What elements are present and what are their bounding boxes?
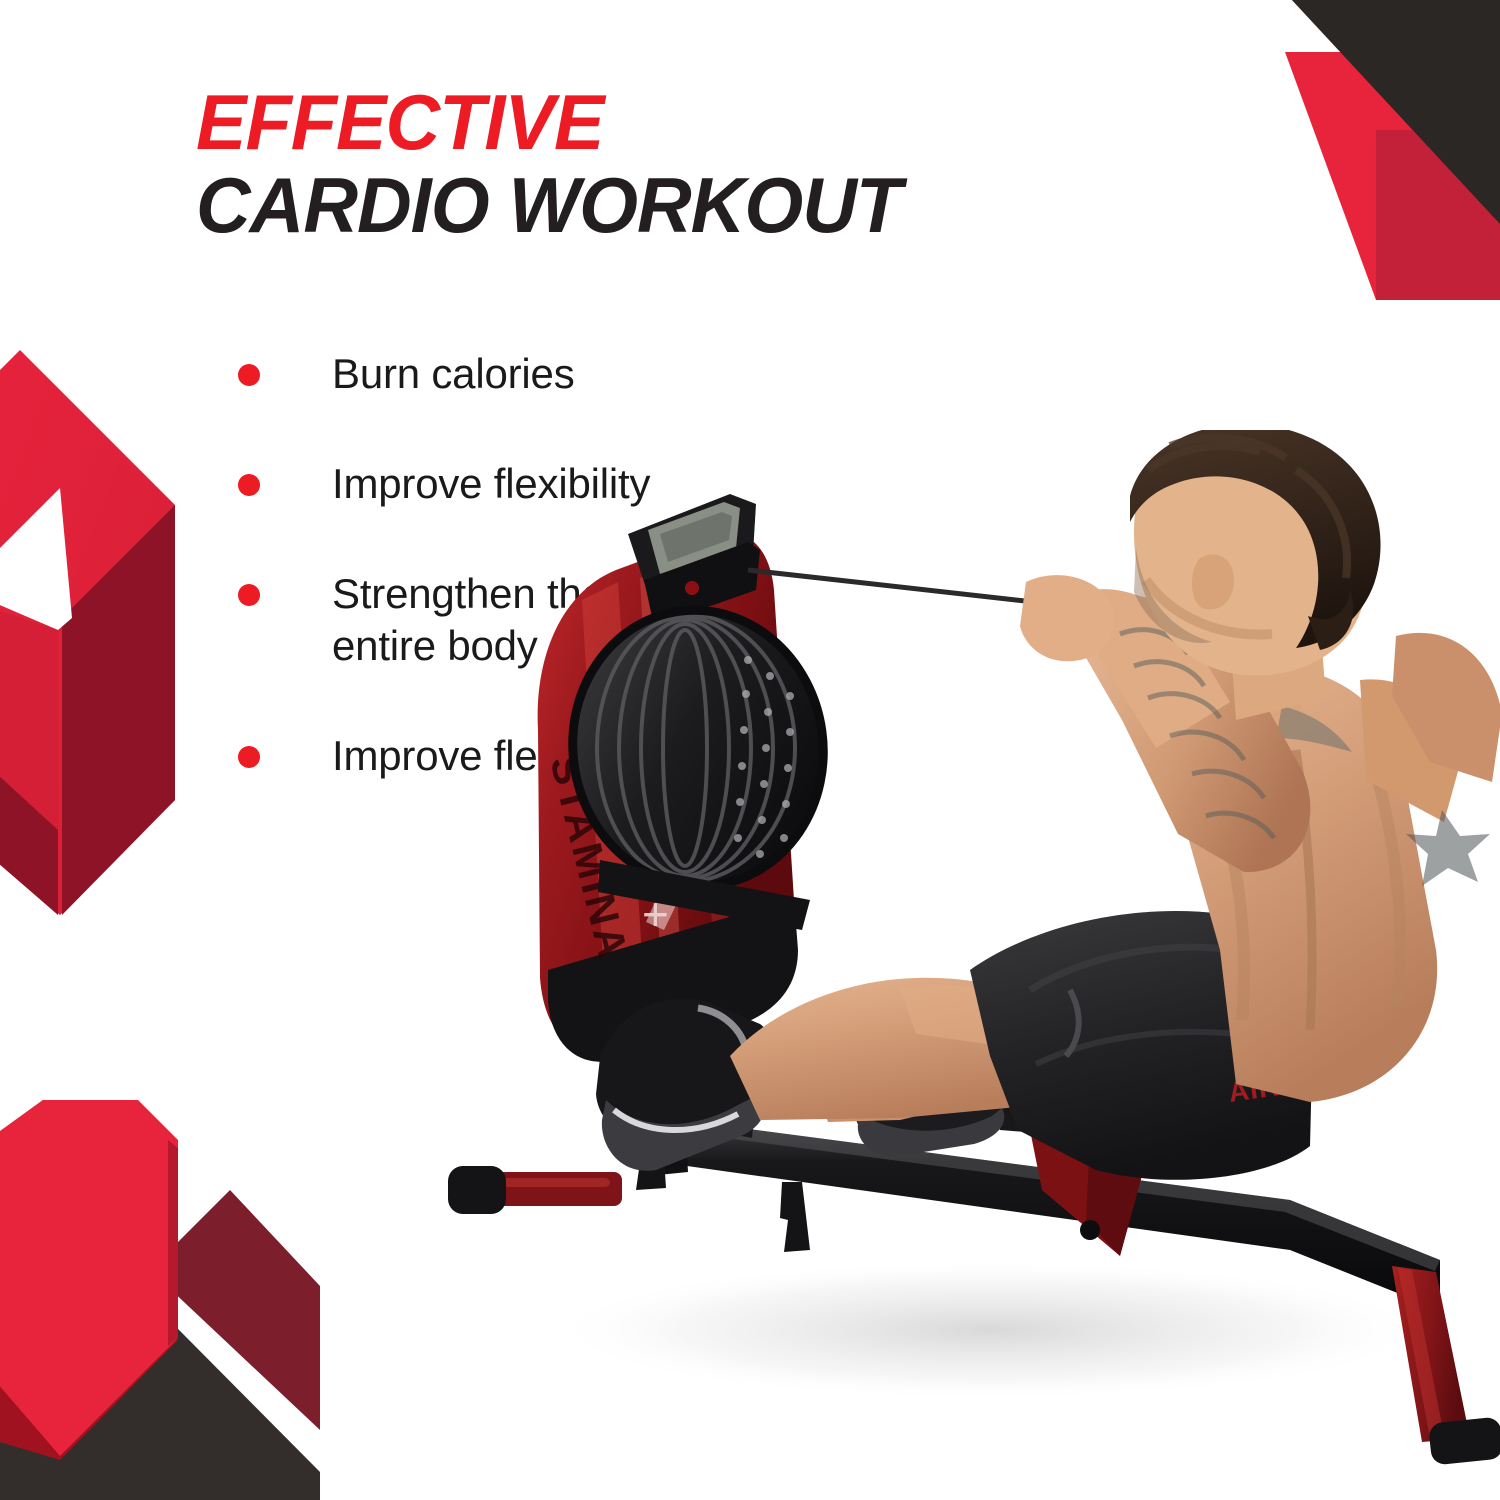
headline-block: EFFECTIVE CARDIO WORKOUT — [196, 86, 1196, 243]
bracket-bolt-lower — [1080, 1220, 1100, 1240]
deco-red-parallelogram — [1285, 52, 1500, 300]
chevron-maroon-lower-left — [0, 740, 58, 915]
deco-red-shade — [1376, 130, 1500, 300]
chevron-red-main — [0, 350, 175, 915]
bullet-dot-icon — [238, 746, 260, 768]
headline-line-2: CARDIO WORKOUT — [196, 169, 1166, 242]
benefit-label: Burn calories — [332, 348, 575, 400]
deco-bl-red-shade — [168, 1140, 178, 1346]
rear-foot-cap — [1428, 1416, 1500, 1465]
resistance-cable — [748, 570, 1034, 602]
floor-shadow — [550, 1260, 1430, 1400]
headline-line-1: EFFECTIVE — [196, 86, 1166, 159]
adjust-lever — [780, 1182, 810, 1252]
athlete: AIR — [730, 430, 1500, 1180]
deco-dark-wedge — [1290, 0, 1500, 224]
deco-bl-red — [0, 1100, 178, 1456]
chevron-dark-red — [62, 505, 175, 915]
fist-near — [1020, 575, 1114, 661]
decoration-left-chevron — [0, 330, 210, 950]
chevron-red-lower-left — [0, 598, 58, 890]
decoration-bottom-left — [0, 1100, 320, 1500]
front-foot-cap — [448, 1166, 506, 1214]
deco-bl-charcoal — [0, 1210, 320, 1500]
bullet-dot-icon — [238, 474, 260, 496]
deco-bl-maroon — [150, 1190, 320, 1430]
deco-bl-dark-red — [0, 1250, 178, 1460]
bullet-dot-icon — [238, 364, 260, 386]
list-item: Burn calories — [238, 348, 878, 400]
decoration-top-right — [1180, 0, 1500, 300]
product-photo-rower-with-athlete: STAMINA + — [430, 430, 1500, 1500]
bullet-dot-icon — [238, 584, 260, 606]
chevron-white-notch — [0, 488, 72, 630]
poster-canvas: EFFECTIVE CARDIO WORKOUT Burn calories I… — [0, 0, 1500, 1500]
